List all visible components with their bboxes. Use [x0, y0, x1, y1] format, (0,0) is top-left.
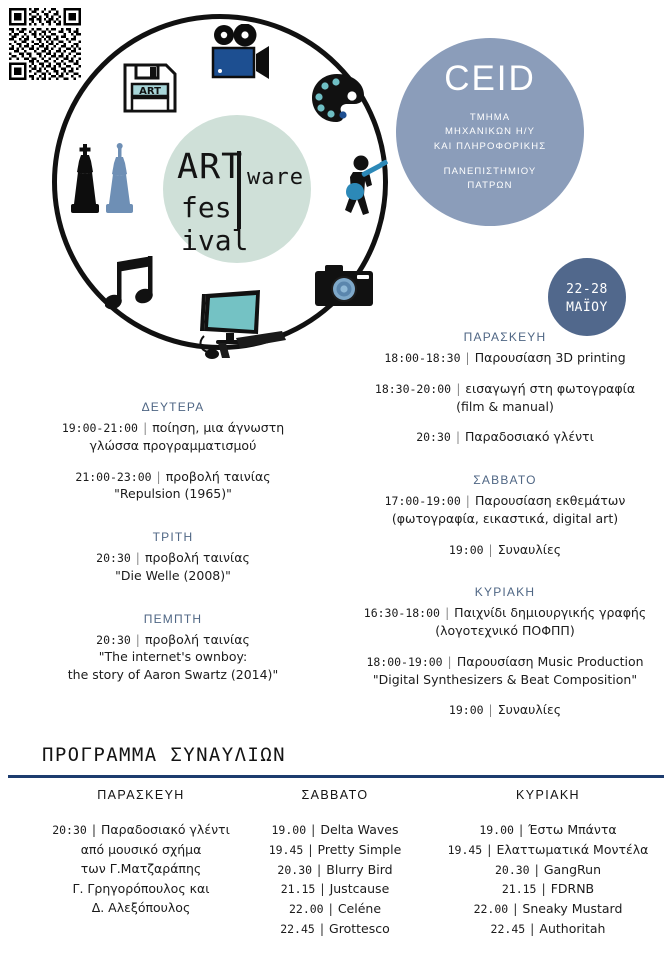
hero-section: CEID ΤΜΗΜΑ ΜΗΧΑΝΙΚΩΝ Η/Υ ΚΑΙ ΠΛΗΡΟΦΟΡΙΚΗ…: [0, 0, 672, 360]
entry-title: Παρουσίαση εκθεμάτων: [475, 493, 625, 508]
paint-palette-icon: [310, 72, 366, 128]
entry-subtitle: "Digital Synthesizers & Beat Composition…: [342, 671, 668, 689]
concert-separator: |: [487, 842, 491, 857]
entry-title: Συναυλίες: [498, 542, 561, 557]
entry-title: ποίηση, μια άγνωστη: [152, 420, 284, 435]
concert-act: 20.30|GangRun: [430, 860, 666, 880]
video-camera-icon: [209, 24, 273, 84]
entry-time: 17:00-19:00: [385, 494, 461, 508]
concert-act: 22.45|Authoritah: [430, 919, 666, 939]
ceid-badge: CEID ΤΜΗΜΑ ΜΗΧΑΝΙΚΩΝ Η/Υ ΚΑΙ ΠΛΗΡΟΦΟΡΙΚΗ…: [396, 38, 584, 226]
entry-separator: |: [489, 702, 493, 717]
concert-name: FDRNB: [551, 881, 594, 896]
schedule-entry: 20:30|Παραδοσιακό γλέντι: [342, 428, 668, 446]
entry-separator: |: [456, 429, 460, 444]
entry-title: Συναυλίες: [498, 702, 561, 717]
desktop-computer-icon: [178, 288, 288, 366]
entry-time: 16:30-18:00: [364, 606, 440, 620]
festival-logo: ART ware fes ival: [163, 115, 311, 263]
concert-name: Justcause: [330, 881, 390, 896]
schedule-column-left: ΔΕΥΤΕΡΑ 19:00-21:00|ποίηση, μια άγνωστη …: [8, 400, 338, 697]
ceid-department: ΤΜΗΜΑ ΜΗΧΑΝΙΚΩΝ Η/Υ ΚΑΙ ΠΛΗΡΟΦΟΡΙΚΗΣ: [396, 111, 584, 155]
concert-name: Delta Waves: [320, 822, 398, 837]
concert-name: Authoritah: [539, 921, 605, 936]
entry-separator: |: [489, 542, 493, 557]
ceid-university: ΠΑΝΕΠΙΣΤΗΜΙΟΥ ΠΑΤΡΩΝ: [396, 165, 584, 194]
entry-time: 18:30-20:00: [375, 382, 451, 396]
entry-separator: |: [136, 632, 140, 647]
ceid-title: CEID: [396, 60, 584, 99]
concert-act: 19.00|Έστω Μπάντα: [430, 820, 666, 840]
schedule-entry: 19:00-21:00|ποίηση, μια άγνωστη γλώσσα π…: [8, 419, 338, 455]
concert-day-header: ΣΑΒΒΑΤΟ: [240, 788, 430, 802]
date-badge: 22-28 ΜΑΪΟΥ: [548, 258, 626, 336]
entry-time: 20:30: [96, 633, 131, 647]
entry-separator: |: [466, 493, 470, 508]
concert-name: GangRun: [544, 862, 601, 877]
schedule-entry: 20:30|προβολή ταινίας "The internet's ow…: [8, 631, 338, 684]
spacer: [8, 516, 338, 530]
concert-separator: |: [513, 901, 517, 916]
concert-separator: |: [530, 921, 534, 936]
entry-title: Παρουσίαση Music Production: [457, 654, 644, 669]
concert-name: Blurry Bird: [326, 862, 392, 877]
logo-ware-text: ware: [247, 165, 304, 190]
concert-time: 19.45: [269, 843, 304, 857]
spacer: [342, 571, 668, 585]
entry-separator: |: [448, 654, 452, 669]
concert-time: 22.45: [280, 922, 315, 936]
entry-separator: |: [136, 550, 140, 565]
day-header: ΔΕΥΤΕΡΑ: [8, 400, 338, 414]
logo-art-text: ART: [177, 147, 243, 187]
schedule-day-saturday: ΣΑΒΒΑΤΟ 17:00-19:00|Παρουσίαση εκθεμάτων…: [342, 473, 668, 558]
concert-column-friday: ΠΑΡΑΣΚΕΥΗ 20:30|Παραδοσιακό γλέντι από μ…: [16, 788, 266, 917]
schedule-entry: 18:30-20:00|εισαγωγή στη φωτογραφία (fil…: [342, 380, 668, 416]
concert-day-header: ΚΥΡΙΑΚΗ: [430, 788, 666, 802]
entry-subtitle: "Die Welle (2008)": [8, 567, 338, 585]
concert-day-header: ΠΑΡΑΣΚΕΥΗ: [16, 788, 266, 802]
concert-act: 22.45|Grottesco: [240, 919, 430, 939]
concert-act: 20.30|Blurry Bird: [240, 860, 430, 880]
concert-act: 19.00|Delta Waves: [240, 820, 430, 840]
concert-act: 21.15|Justcause: [240, 879, 430, 899]
entry-title: προβολή ταινίας: [145, 550, 250, 565]
logo-t-stem: [237, 151, 241, 229]
ceid-line-5: ΠΑΤΡΩΝ: [396, 179, 584, 194]
entry-subtitle: (λογοτεχνικό ΠΟΦΠΠ): [342, 622, 668, 640]
concert-detail-3: Γ. Γρηγορόπουλος και: [16, 879, 266, 898]
schedule-day-thursday: ΠΕΜΠΤΗ 20:30|προβολή ταινίας "The intern…: [8, 612, 338, 684]
entry-separator: |: [143, 420, 147, 435]
day-header: ΣΑΒΒΑΤΟ: [342, 473, 668, 487]
entry-time: 18:00-18:30: [384, 351, 460, 365]
schedule-entry: 19:00|Συναυλίες: [342, 541, 668, 559]
concert-time: 19.00: [272, 823, 307, 837]
entry-time: 19:00: [449, 703, 484, 717]
concert-separator: |: [92, 822, 96, 837]
entry-title: προβολή ταινίας: [166, 469, 271, 484]
concert-separator: |: [329, 901, 333, 916]
floppy-disk-icon: ART: [122, 62, 178, 118]
entry-time: 20:30: [416, 430, 451, 444]
concert-separator: |: [311, 822, 315, 837]
concert-name: Ελαττωματικά Μοντέλα: [496, 842, 648, 857]
concert-act: 22.00|Sneaky Mustard: [430, 899, 666, 919]
concert-act: 20:30|Παραδοσιακό γλέντι: [16, 820, 266, 840]
concert-time: 22.00: [474, 902, 509, 916]
schedule-column-right: ΠΑΡΑΣΚΕΥΗ 18:00-18:30|Παρουσίαση 3D prin…: [342, 330, 668, 732]
concert-act: 19.45|Pretty Simple: [240, 840, 430, 860]
spacer: [342, 459, 668, 473]
concert-act: 21.15|FDRNB: [430, 879, 666, 899]
music-note-icon: [105, 252, 161, 318]
concert-separator: |: [320, 881, 324, 896]
concert-time: 22.45: [491, 922, 526, 936]
concert-separator: |: [308, 842, 312, 857]
schedule-entry: 17:00-19:00|Παρουσίαση εκθεμάτων (φωτογρ…: [342, 492, 668, 528]
concert-time: 21.15: [281, 882, 316, 896]
entry-separator: |: [157, 469, 161, 484]
chess-pieces-icon: [70, 142, 148, 224]
photo-camera-icon: [313, 262, 375, 314]
day-header: ΠΑΡΑΣΚΕΥΗ: [342, 330, 668, 344]
date-month: ΜΑΪΟΥ: [548, 299, 626, 317]
schedule-entry: 18:00-19:00|Παρουσίαση Music Production …: [342, 653, 668, 689]
concert-name: Pretty Simple: [318, 842, 402, 857]
concert-detail-4: Δ. Αλεξόπουλος: [16, 898, 266, 917]
entry-subtitle: "Repulsion (1965)": [8, 485, 338, 503]
concert-name: Grottesco: [329, 921, 390, 936]
entry-time: 21:00-23:00: [75, 470, 151, 484]
day-header: ΚΥΡΙΑΚΗ: [342, 585, 668, 599]
entry-title: Παιχνίδι δημιουργικής γραφής: [454, 605, 646, 620]
concert-separator: |: [519, 822, 523, 837]
entry-subtitle: (φωτογραφία, εικαστικά, digital art): [342, 510, 668, 528]
ceid-line-4: ΠΑΝΕΠΙΣΤΗΜΙΟΥ: [396, 165, 584, 180]
entry-separator: |: [445, 605, 449, 620]
ceid-line-2: ΜΗΧΑΝΙΚΩΝ Η/Υ: [396, 125, 584, 140]
concert-time: 20:30: [52, 823, 87, 837]
entry-separator: |: [466, 350, 470, 365]
schedule-day-tuesday: ΤΡΙΤΗ 20:30|προβολή ταινίας "Die Welle (…: [8, 530, 338, 585]
concert-separator: |: [541, 881, 545, 896]
concerts-section-title: ΠΡΟΓΡΑΜΜΑ ΣΥΝΑΥΛΙΩΝ: [42, 744, 286, 766]
entry-separator: |: [456, 381, 460, 396]
concert-name: Celéne: [338, 901, 381, 916]
entry-time: 19:00-21:00: [62, 421, 138, 435]
schedule-entry: 19:00|Συναυλίες: [342, 701, 668, 719]
concert-time: 19.00: [479, 823, 514, 837]
concert-time: 19.45: [448, 843, 483, 857]
ceid-line-3: ΚΑΙ ΠΛΗΡΟΦΟΡΙΚΗΣ: [396, 140, 584, 155]
schedule-entry: 16:30-18:00|Παιχνίδι δημιουργικής γραφής…: [342, 604, 668, 640]
concert-column-sunday: ΚΥΡΙΑΚΗ 19.00|Έστω Μπάντα 19.45|Ελαττωμα…: [430, 788, 666, 939]
entry-subtitle: γλώσσα προγραμματισμού: [8, 437, 338, 455]
concert-separator: |: [320, 921, 324, 936]
logo-festival-text: fes ival: [181, 191, 311, 257]
concert-column-saturday: ΣΑΒΒΑΤΟ 19.00|Delta Waves 19.45|Pretty S…: [240, 788, 430, 939]
schedule-entry: 21:00-23:00|προβολή ταινίας "Repulsion (…: [8, 468, 338, 504]
entry-subtitle: (film & manual): [342, 398, 668, 416]
day-header: ΠΕΜΠΤΗ: [8, 612, 338, 626]
concert-act: 19.45|Ελαττωματικά Μοντέλα: [430, 840, 666, 860]
concert-act: 22.00|Celéne: [240, 899, 430, 919]
schedule-day-friday: ΠΑΡΑΣΚΕΥΗ 18:00-18:30|Παρουσίαση 3D prin…: [342, 330, 668, 446]
entry-title: Παραδοσιακό γλέντι: [465, 429, 594, 444]
concert-time: 20.30: [277, 863, 312, 877]
concert-name: Sneaky Mustard: [522, 901, 622, 916]
concert-detail-1: από μουσικό σχήμα: [16, 840, 266, 859]
guitar-player-icon: [339, 155, 391, 221]
section-divider: [8, 775, 664, 778]
schedule-entry: 18:00-18:30|Παρουσίαση 3D printing: [342, 349, 668, 367]
concert-name: Έστω Μπάντα: [528, 822, 617, 837]
entry-time: 19:00: [449, 543, 484, 557]
entry-title: Παρουσίαση 3D printing: [475, 350, 626, 365]
entry-title: εισαγωγή στη φωτογραφία: [465, 381, 635, 396]
concert-separator: |: [317, 862, 321, 877]
concert-separator: |: [535, 862, 539, 877]
svg-text:ART: ART: [139, 86, 161, 97]
day-header: ΤΡΙΤΗ: [8, 530, 338, 544]
entry-subtitle-2: the story of Aaron Swartz (2014)": [8, 666, 338, 684]
concert-time: 20.30: [495, 863, 530, 877]
schedule-day-sunday: ΚΥΡΙΑΚΗ 16:30-18:00|Παιχνίδι δημιουργική…: [342, 585, 668, 719]
entry-time: 20:30: [96, 551, 131, 565]
entry-subtitle: "The internet's ownboy:: [8, 648, 338, 666]
entry-time: 18:00-19:00: [366, 655, 442, 669]
ceid-line-1: ΤΜΗΜΑ: [396, 111, 584, 126]
concert-time: 22.00: [289, 902, 324, 916]
spacer: [8, 598, 338, 612]
schedule-entry: 20:30|προβολή ταινίας "Die Welle (2008)": [8, 549, 338, 585]
concert-detail-2: των Γ.Ματζαράπης: [16, 859, 266, 878]
concert-time: 21.15: [502, 882, 537, 896]
schedule-day-monday: ΔΕΥΤΕΡΑ 19:00-21:00|ποίηση, μια άγνωστη …: [8, 400, 338, 503]
entry-title: προβολή ταινίας: [145, 632, 250, 647]
concert-name: Παραδοσιακό γλέντι: [101, 822, 230, 837]
date-days: 22-28: [548, 281, 626, 299]
